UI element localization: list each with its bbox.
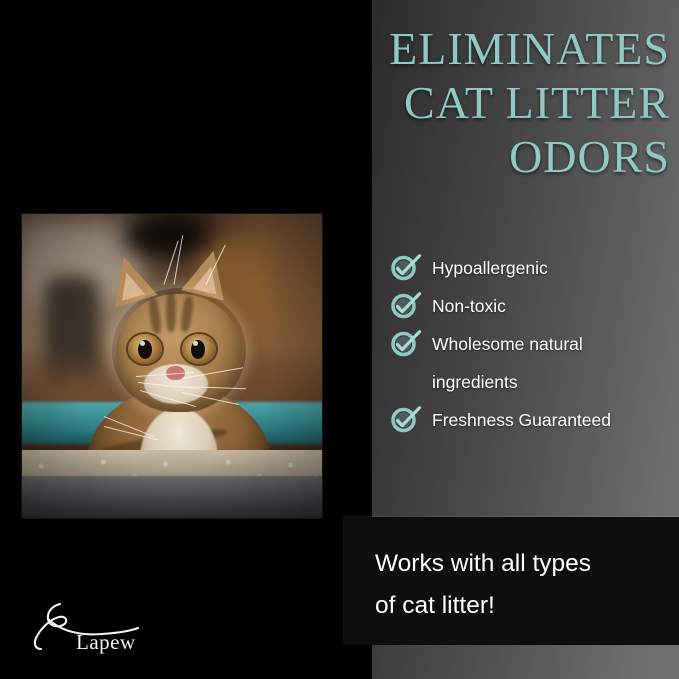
callout-line-2: of cat litter!: [375, 585, 665, 627]
headline-line-2: CAT LITTER: [270, 76, 670, 130]
check-circle-icon: [390, 250, 422, 280]
headline-line-3: ODORS: [270, 130, 670, 184]
callout-line-1: Works with all types: [375, 543, 665, 585]
benefits-list: Hypoallergenic Non-toxic Wholesome n: [390, 250, 670, 440]
kitten-product-photo: [22, 214, 322, 518]
list-item-label: Freshness Guaranteed: [432, 402, 611, 438]
check-circle-icon: [390, 288, 422, 318]
list-item-label: ingredients: [432, 364, 518, 400]
ad-creative-canvas: ELIMINATES CAT LITTER ODORS: [0, 0, 679, 679]
brand-logo: Lapew: [26, 600, 176, 662]
list-item-label: Hypoallergenic: [432, 250, 548, 286]
photo-vignette: [22, 214, 322, 518]
headline: ELIMINATES CAT LITTER ODORS: [270, 22, 670, 184]
logo-wordmark: Lapew: [76, 630, 136, 655]
callout-box: Works with all types of cat litter!: [344, 517, 679, 645]
headline-line-1: ELIMINATES: [270, 22, 670, 76]
list-item-label: Wholesome natural: [432, 326, 583, 362]
list-item: Freshness Guaranteed: [390, 402, 670, 438]
list-item: Non-toxic: [390, 288, 670, 324]
list-item-label: Non-toxic: [432, 288, 506, 324]
list-item-continuation: ingredients: [390, 364, 670, 400]
list-item: Wholesome natural: [390, 326, 670, 362]
check-circle-icon: [390, 326, 422, 356]
callout-text: Works with all types of cat litter!: [375, 543, 665, 627]
list-item: Hypoallergenic: [390, 250, 670, 286]
check-circle-icon: [390, 402, 422, 432]
